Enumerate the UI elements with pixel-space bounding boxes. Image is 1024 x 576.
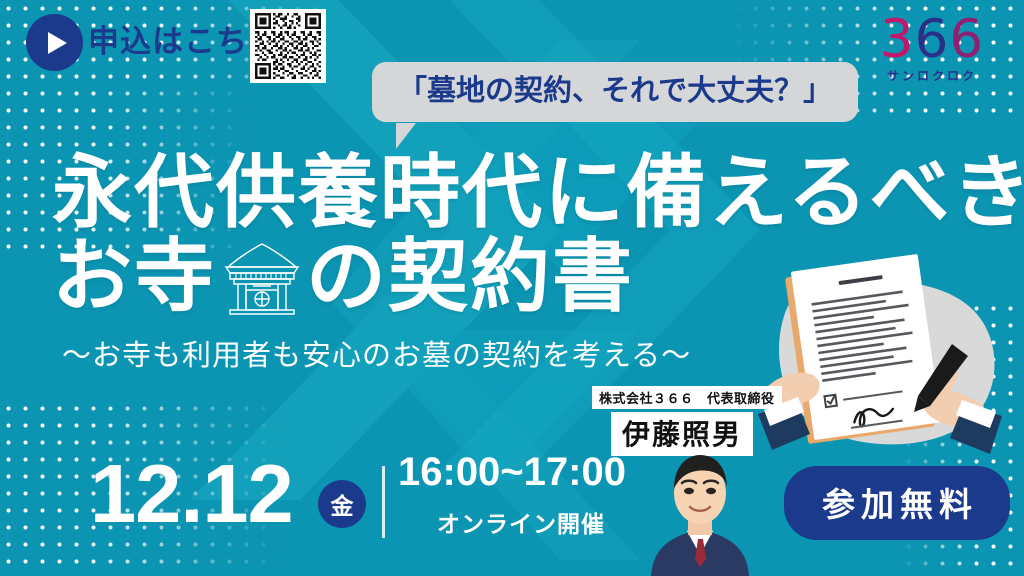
speech-bubble-text: 「墓地の契約、それで大丈夫？」 [398, 73, 832, 109]
speech-bubble: 「墓地の契約、それで大丈夫？」 [372, 62, 858, 122]
vertical-divider [382, 466, 385, 538]
free-participation-badge: 参加無料 [784, 466, 1010, 540]
title-line-2-before: お寺 [52, 236, 216, 320]
speech-bubble-tail [396, 123, 416, 149]
logo-digit-1: 3 [880, 9, 915, 70]
subtitle: 〜お寺も利用者も安心のお墓の契約を考える〜 [62, 332, 691, 374]
logo-digit-3: 6 [949, 9, 984, 70]
event-date: 12.12 [90, 452, 293, 535]
webinar-banner: 申込はこちら [0, 0, 1024, 576]
title-line-1: 永代供養時代に備えるべき [52, 152, 1024, 236]
play-button[interactable] [26, 14, 83, 71]
logo-digit-2: 6 [915, 9, 950, 70]
speaker-company-title: 株式会社３６６ 代表取締役 [592, 386, 782, 409]
contract-signing-illustration [752, 248, 1018, 460]
event-day-of-week: 金 [318, 480, 366, 528]
event-format: オンライン開催 [437, 505, 605, 539]
event-time: 16:00~17:00 [398, 450, 626, 495]
temple-building-icon [220, 240, 304, 316]
title-line-2-after: の契約書 [306, 236, 634, 320]
speaker-headshot [643, 443, 757, 576]
logo-mark: 366 [862, 14, 1002, 66]
play-triangle-icon [48, 32, 67, 54]
qr-code-icon[interactable] [250, 9, 326, 83]
brand-logo: 366 サンロクロク [862, 14, 1002, 84]
